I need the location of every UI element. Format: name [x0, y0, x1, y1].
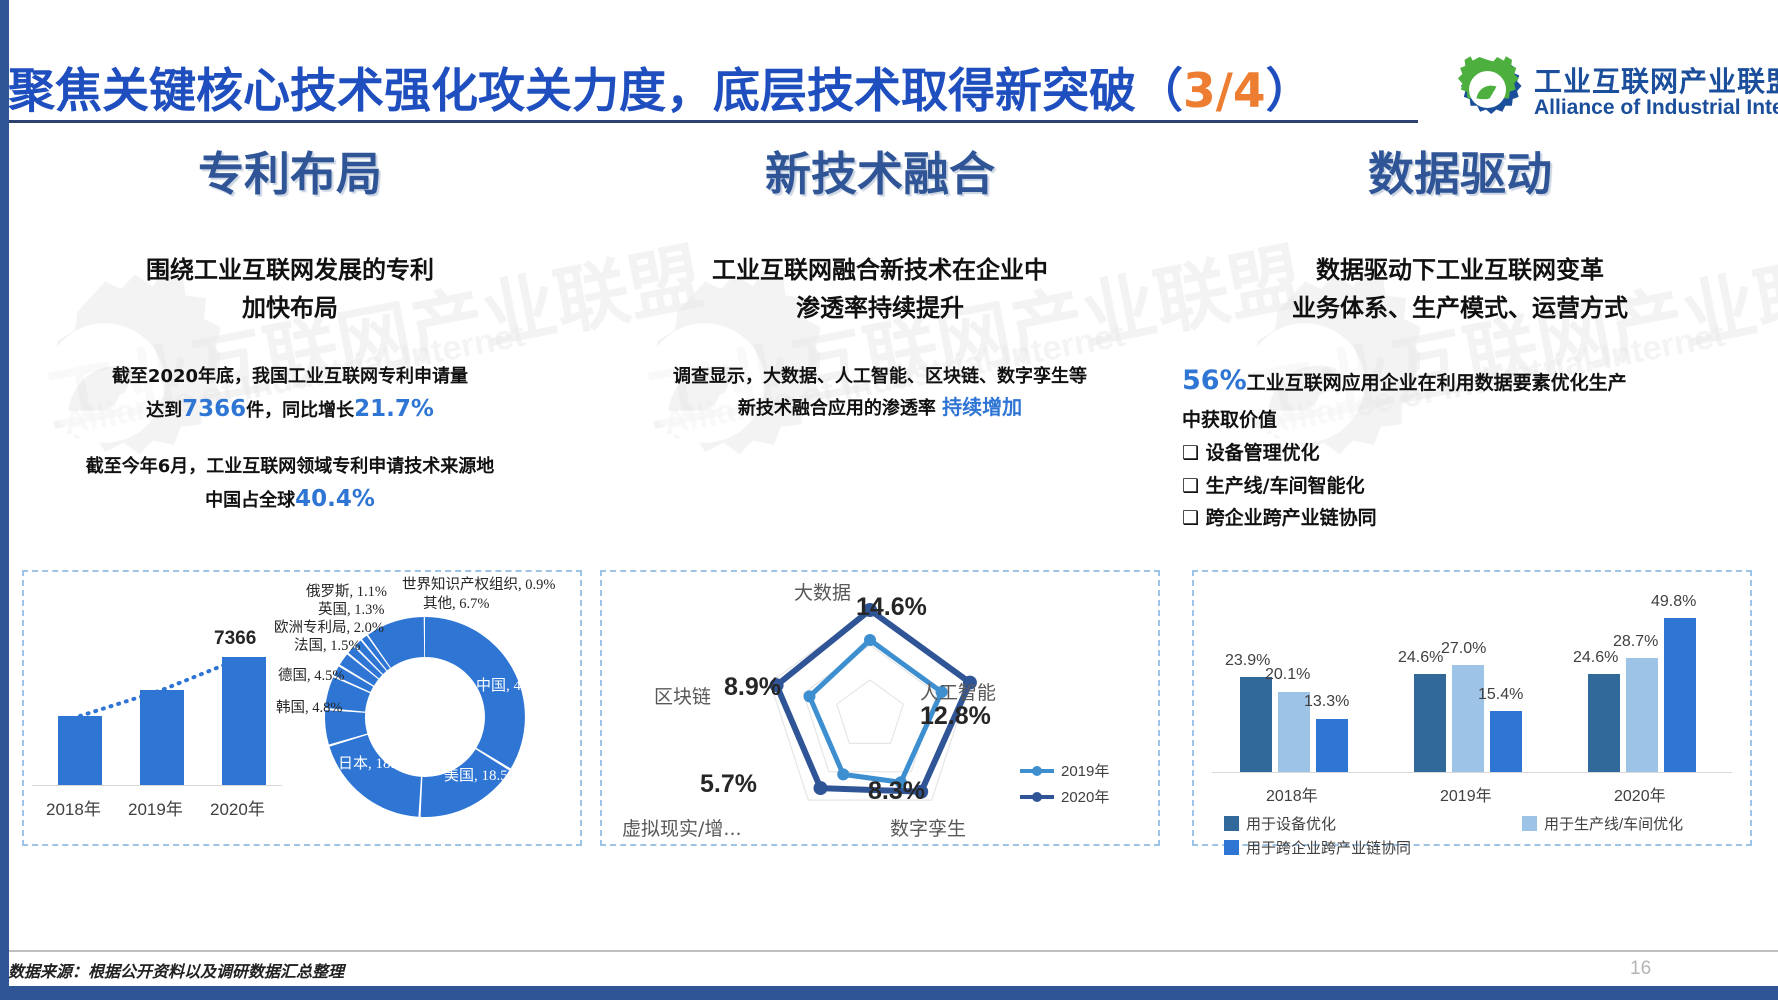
bar-2019-cross [1490, 711, 1522, 772]
column-3-heading: 数据驱动 [1180, 138, 1740, 204]
radar-legend-label-2020: 2020年 [1061, 786, 1109, 807]
column-1-subtitle-line1: 围绕工业互联网发展的专利 [10, 252, 570, 290]
source-note: 数据来源：根据公开资料以及调研数据汇总整理 [8, 958, 344, 982]
column-1-p2-line2: 中国占全球40.4% [10, 481, 570, 518]
page-title-post: ） [1266, 64, 1313, 119]
donut-label-usa-text: 美国, 18.5% [444, 768, 520, 784]
bar1-xtick-2018: 2018年 [46, 795, 101, 820]
donut-label-china: 中国, 40.4% [476, 678, 532, 695]
column-3-subtitle: 数据驱动下工业互联网变革 业务体系、生产模式、运营方式 [1180, 252, 1740, 328]
column-1-p1-pre: 达到 [146, 400, 182, 421]
radar-legend-marker-2020 [1020, 790, 1054, 804]
column-3-subtitle-line2: 业务体系、生产模式、运营方式 [1180, 290, 1740, 328]
radar-legend-2020: 2020年 [1020, 786, 1109, 807]
donut-label-germany: 德国, 4.5% [278, 664, 344, 685]
column-2-heading: 新技术融合 [600, 138, 1160, 204]
column-2-p1-line2: 新技术融合应用的渗透率 持续增加 [600, 391, 1160, 423]
bar3-legend-cross: 用于跨企业跨产业链协同 [1224, 837, 1411, 858]
bar3-legend-label-line: 用于生产线/车间优化 [1544, 813, 1683, 834]
radar-value-digital-twin: 8.3% [868, 777, 925, 806]
donut-label-china-text: 中国, 40.4% [476, 678, 552, 694]
legend-swatch-device [1224, 816, 1239, 831]
bar-2018-cross [1316, 719, 1348, 772]
column-3-bullet-2: 生产线/车间智能化 [1206, 475, 1365, 497]
page-title: 聚焦关键核心技术强化攻关力度，底层技术取得新突破（3/4） [8, 52, 1313, 121]
checkbox-icon: ❑ [1182, 475, 1199, 497]
column-3-lead-line2: 中获取价值 [1182, 404, 1740, 437]
column-1-p1-mid: 件，同比增长 [246, 400, 354, 421]
donut-label-japan-text: 日本, 18.3% [338, 756, 414, 772]
bar1-xtick-2020: 2020年 [210, 795, 265, 820]
header: 聚焦关键核心技术强化攻关力度，底层技术取得新突破（3/4） 工业互联网产业联盟 … [0, 22, 1778, 110]
column-3-bullet-3: 跨企业跨产业链协同 [1206, 507, 1377, 529]
column-3-bullets: 56%工业互联网应用企业在利用数据要素优化生产 中获取价值 ❑ 设备管理优化 ❑… [1180, 358, 1740, 535]
column-3-subtitle-line1: 数据驱动下工业互联网变革 [1180, 252, 1740, 290]
bar3-value-2020-line: 28.7% [1613, 633, 1658, 651]
bar3-value-2018-line: 20.1% [1265, 666, 1310, 684]
chart-data-driven-grouped-bar: 23.9% 20.1% 13.3% 24.6% 27.0% 15.4% 24.6… [1192, 570, 1748, 842]
column-1-subtitle: 围绕工业互联网发展的专利 加快布局 [10, 252, 570, 328]
bar3-legend-label-cross: 用于跨企业跨产业链协同 [1246, 837, 1411, 858]
bar3-baseline [1212, 772, 1732, 773]
bar-2019-line [1452, 665, 1484, 772]
bar3-xtick-2019: 2019年 [1440, 782, 1492, 806]
list-item: ❑ 设备管理优化 [1182, 437, 1740, 470]
radar-legend-2019: 2019年 [1020, 760, 1109, 781]
radar-legend-label-2019: 2019年 [1061, 760, 1109, 781]
logo-gear-icon [1452, 54, 1526, 128]
logo-title-en: Alliance of Industrial Internet [1534, 96, 1778, 120]
column-1-p2-line1: 截至今年6月，工业互联网领域专利申请技术来源地 [10, 452, 570, 481]
column-2-subtitle-line2: 渗透率持续提升 [600, 290, 1160, 328]
column-1-subtitle-line2: 加快布局 [10, 290, 570, 328]
logo: 工业互联网产业联盟 Alliance of Industrial Interne… [1452, 52, 1772, 130]
legend-swatch-cross [1224, 840, 1239, 855]
logo-title-cn: 工业互联网产业联盟 [1534, 60, 1778, 100]
footer-divider [0, 950, 1778, 952]
bar-2020-line [1626, 658, 1658, 772]
donut-label-others: 其他, 6.7% [423, 592, 489, 613]
page-title-number: 3/4 [1183, 64, 1266, 119]
column-2-subtitle: 工业互联网融合新技术在企业中 渗透率持续提升 [600, 252, 1160, 328]
column-3-lead-text: 工业互联网应用企业在利用数据要素优化生产 [1247, 372, 1627, 394]
chart-patent-applications-bar: 7366 2018年 2019年 2020年 [22, 570, 292, 842]
radar-value-blockchain: 8.9% [724, 673, 781, 702]
column-2-stat-highlight: 持续增加 [942, 395, 1022, 419]
bar3-value-2020-device: 24.6% [1573, 649, 1618, 667]
bar3-legend-device: 用于设备优化 [1224, 813, 1336, 834]
title-underline [8, 120, 1418, 123]
bar3-legend-label-device: 用于设备优化 [1246, 813, 1336, 834]
bar3-value-2019-cross: 15.4% [1478, 686, 1523, 704]
chart-new-tech-penetration-radar: 大数据 14.6% 人工智能 12.8% 数字孪生 8.3% 虚拟现实/增...… [600, 570, 1156, 842]
radar-value-ai: 12.8% [920, 702, 991, 731]
bar-2019-device [1414, 674, 1446, 772]
column-1-stat-217: 21.7% [354, 396, 434, 422]
list-item: ❑ 跨企业跨产业链协同 [1182, 502, 1740, 535]
bar3-value-2018-device: 23.9% [1225, 652, 1270, 670]
donut-label-japan: 日本, 18.3% [338, 756, 394, 773]
column-1-p1-line1: 截至2020年底，我国工业互联网专利申请量 [10, 362, 570, 391]
bar3-xtick-2018: 2018年 [1266, 782, 1318, 806]
column-1-paragraph-1: 截至2020年底，我国工业互联网专利申请量 达到7366件，同比增长21.7% [10, 362, 570, 428]
radar-axis-label-vr: 虚拟现实/增... [622, 814, 742, 841]
column-3-stat-56: 56% [1182, 365, 1247, 396]
radar-axis-label-blockchain: 区块链 [654, 682, 711, 709]
bar3-legend-line: 用于生产线/车间优化 [1522, 813, 1683, 834]
radar-value-vr: 5.7% [700, 770, 757, 799]
donut-label-usa: 美国, 18.5% [444, 768, 500, 785]
column-1-p1-line2: 达到7366件，同比增长21.7% [10, 391, 570, 428]
column-2-paragraph-1: 调查显示，大数据、人工智能、区块链、数字孪生等 新技术融合应用的渗透率 持续增加 [600, 362, 1160, 424]
page-number: 16 [1630, 958, 1651, 980]
radar-value-bigdata: 14.6% [856, 593, 927, 622]
checkbox-icon: ❑ [1182, 442, 1199, 464]
bar3-value-2020-cross: 49.8% [1651, 593, 1696, 611]
bar3-value-2018-cross: 13.3% [1304, 693, 1349, 711]
radar-axis-label-ai: 人工智能 [920, 678, 996, 705]
chart-patent-origin-donut: 俄罗斯, 1.1% 英国, 1.3% 欧洲专利局, 2.0% 法国, 1.5% … [280, 570, 580, 842]
radar-axis-label-bigdata: 大数据 [794, 578, 851, 605]
list-item: ❑ 生产线/车间智能化 [1182, 470, 1740, 503]
column-2-subtitle-line1: 工业互联网融合新技术在企业中 [600, 252, 1160, 290]
bar3-xtick-2020: 2020年 [1614, 782, 1666, 806]
legend-swatch-line [1522, 816, 1537, 831]
bar-2020-cross [1664, 618, 1696, 772]
bar1-xtick-2019: 2019年 [128, 795, 183, 820]
bar3-value-2019-line: 27.0% [1441, 640, 1486, 658]
bar-2020-device [1588, 674, 1620, 772]
footer-accent-bar [0, 986, 1778, 1000]
column-2-p1-line1: 调查显示，大数据、人工智能、区块链、数字孪生等 [600, 362, 1160, 391]
donut-label-korea: 韩国, 4.8% [276, 696, 342, 717]
bar-2018-device [1240, 677, 1272, 772]
column-3-lead-line: 56%工业互联网应用企业在利用数据要素优化生产 [1182, 358, 1740, 404]
column-1-paragraph-2: 截至今年6月，工业互联网领域专利申请技术来源地 中国占全球40.4% [10, 452, 570, 518]
bar1-value-2020: 7366 [214, 628, 256, 650]
page-title-pre: 聚焦关键核心技术强化攻关力度，底层技术取得新突破（ [8, 64, 1183, 119]
column-3-bullet-1: 设备管理优化 [1206, 442, 1320, 464]
donut-label-wipo: 世界知识产权组织, 0.9% [402, 573, 555, 594]
bar3-value-2019-device: 24.6% [1398, 649, 1443, 667]
column-1-stat-404: 40.4% [295, 486, 375, 512]
left-accent-bar [0, 0, 9, 1000]
checkbox-icon: ❑ [1182, 507, 1199, 529]
radar-axis-label-digital-twin: 数字孪生 [890, 814, 966, 841]
donut-label-france: 法国, 1.5% [294, 634, 360, 655]
column-2-p1-pre: 新技术融合应用的渗透率 [738, 398, 936, 419]
slide: 工业互联网产业联盟 Alliance of Industrial Interne… [0, 0, 1778, 1000]
column-1-heading: 专利布局 [10, 138, 570, 204]
column-1-p2-pre: 中国占全球 [205, 490, 295, 511]
radar-legend-marker-2019 [1020, 764, 1054, 778]
column-1-stat-7366: 7366 [182, 396, 246, 422]
